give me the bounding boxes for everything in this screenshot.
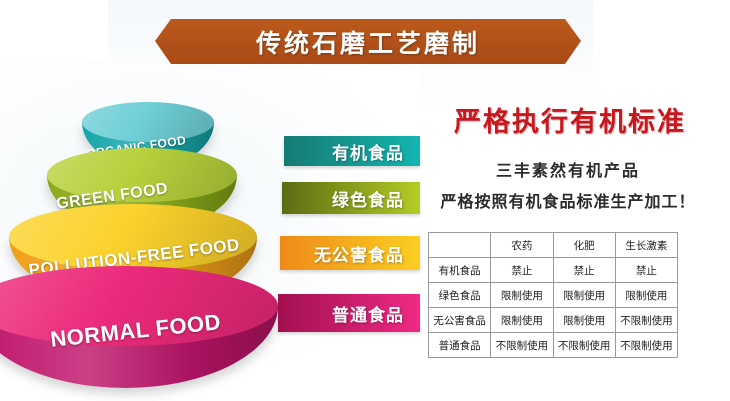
subtitle-line-2: 严格按照有机食品标准生产加工！ — [418, 188, 718, 212]
table-row: 有机食品禁止禁止禁止 — [429, 258, 678, 283]
table-cell: 限制使用 — [491, 308, 553, 333]
table-header-row: 农药化肥生长激素 — [429, 233, 678, 258]
pyramid-tier-1-top — [82, 102, 214, 142]
table-row: 无公害食品限制使用限制使用不限制使用 — [429, 308, 678, 333]
table-cell: 禁止 — [615, 258, 677, 283]
table-header-corner — [429, 233, 491, 258]
standards-comparison-table: 农药化肥生长激素有机食品禁止禁止禁止绿色食品限制使用限制使用限制使用无公害食品限… — [428, 232, 678, 358]
standards-table-wrapper: 农药化肥生长激素有机食品禁止禁止禁止绿色食品限制使用限制使用限制使用无公害食品限… — [428, 232, 678, 358]
subtitle-line-1: 三丰素然有机产品 — [418, 157, 718, 181]
table-cell: 禁止 — [553, 258, 615, 283]
table-header-cell: 生长激素 — [615, 233, 677, 258]
headline-organic-standard: 严格执行有机标准 — [418, 100, 718, 139]
poster-root: 传统石磨工艺磨制 ORGANIC FOOD有机食品GREEN FOOD绿色食品P… — [0, 0, 730, 401]
pyramid-tier-2-ribbon: 绿色食品 — [282, 182, 420, 214]
table-cell: 限制使用 — [553, 308, 615, 333]
banner-title: 传统石磨工艺磨制 — [256, 24, 480, 60]
table-cell: 限制使用 — [491, 283, 553, 308]
pyramid-tier-4-cn-label: 普通食品 — [332, 301, 420, 326]
pyramid-tier-4-ribbon: 普通食品 — [278, 294, 420, 332]
header-banner: 传统石磨工艺磨制 — [155, 19, 581, 64]
table-row: 普通食品不限制使用不限制使用不限制使用 — [429, 333, 678, 358]
table-cell: 限制使用 — [553, 283, 615, 308]
pyramid-tier-1-cn-label: 有机食品 — [332, 139, 420, 164]
table-header-cell: 化肥 — [553, 233, 615, 258]
pyramid-tier-2-cn-label: 绿色食品 — [332, 186, 420, 211]
table-header-cell: 农药 — [491, 233, 553, 258]
right-content-column: 严格执行有机标准 三丰素然有机产品 严格按照有机食品标准生产加工！ — [418, 100, 718, 212]
table-cell: 不限制使用 — [615, 333, 677, 358]
table-row-label: 绿色食品 — [429, 283, 491, 308]
pyramid-tier-3-ribbon: 无公害食品 — [280, 236, 420, 270]
table-row-label: 普通食品 — [429, 333, 491, 358]
table-cell: 不限制使用 — [615, 308, 677, 333]
table-row-label: 有机食品 — [429, 258, 491, 283]
table-row: 绿色食品限制使用限制使用限制使用 — [429, 283, 678, 308]
table-cell: 禁止 — [491, 258, 553, 283]
food-grade-pyramid: ORGANIC FOOD有机食品GREEN FOOD绿色食品POLLUTION-… — [20, 96, 420, 376]
pyramid-tier-1-ribbon: 有机食品 — [284, 136, 420, 166]
pyramid-tier-3-cn-label: 无公害食品 — [314, 241, 420, 266]
table-row-label: 无公害食品 — [429, 308, 491, 333]
table-cell: 不限制使用 — [553, 333, 615, 358]
table-cell: 不限制使用 — [491, 333, 553, 358]
table-cell: 限制使用 — [615, 283, 677, 308]
